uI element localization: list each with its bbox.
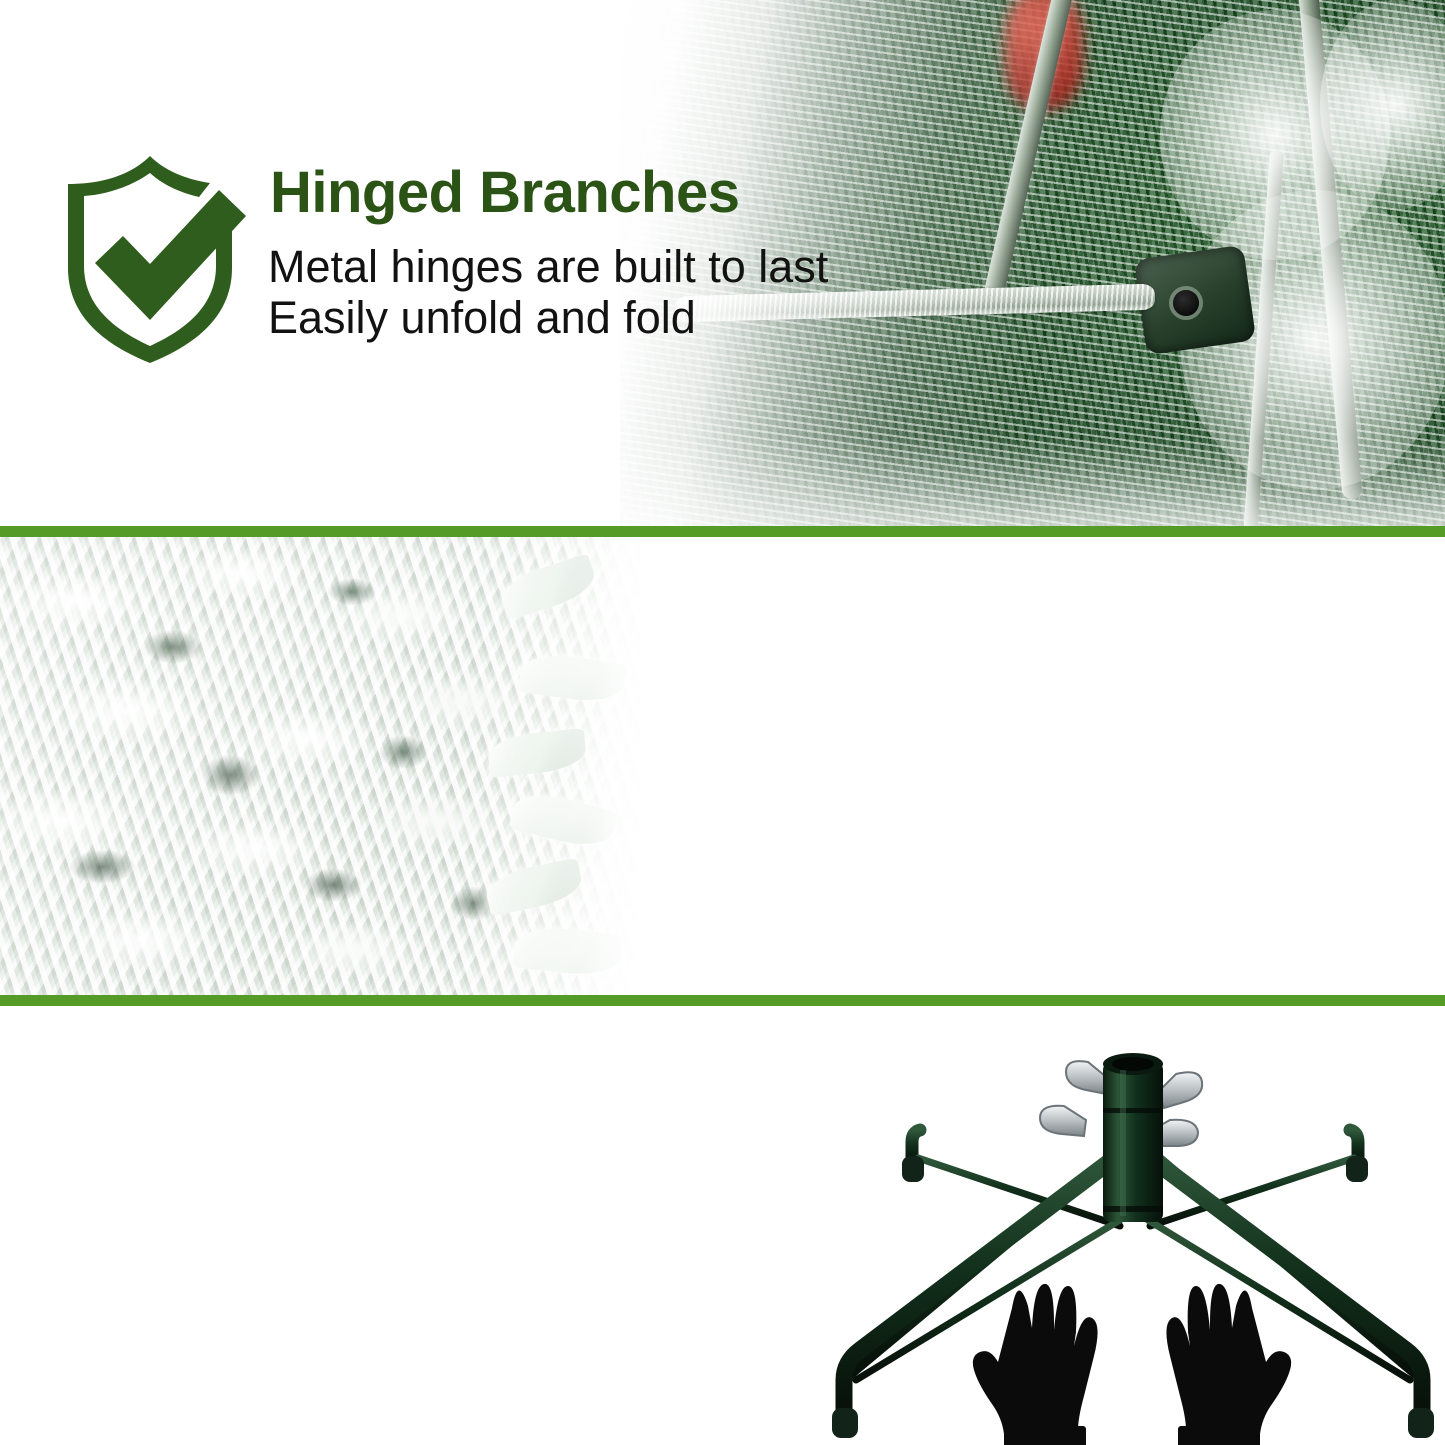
- hinged-branches-description: Metal hinges are built to last Easily un…: [268, 241, 828, 344]
- panel-hinged-branches: Hinged Branches Metal hinges are built t…: [0, 0, 1445, 527]
- panel-environmental-safe-material: Environmental Safe Material Non-flammabl…: [0, 537, 1445, 995]
- photo-fade-bottom: [620, 437, 1445, 527]
- divider-1: [0, 526, 1445, 537]
- flocked-tree-photo: [0, 537, 640, 995]
- metal-stand-and-gloves-photo: [820, 1030, 1445, 1445]
- infographic-page: Hinged Branches Metal hinges are built t…: [0, 0, 1445, 1445]
- shield-check-icon: [52, 148, 248, 363]
- divider-2: [0, 995, 1445, 1006]
- photo-fade-right: [0, 537, 640, 995]
- stand-center-tube: [1103, 1053, 1163, 1222]
- gloves: [973, 1284, 1291, 1445]
- page-title-hinged-branches: Hinged Branches: [270, 163, 740, 223]
